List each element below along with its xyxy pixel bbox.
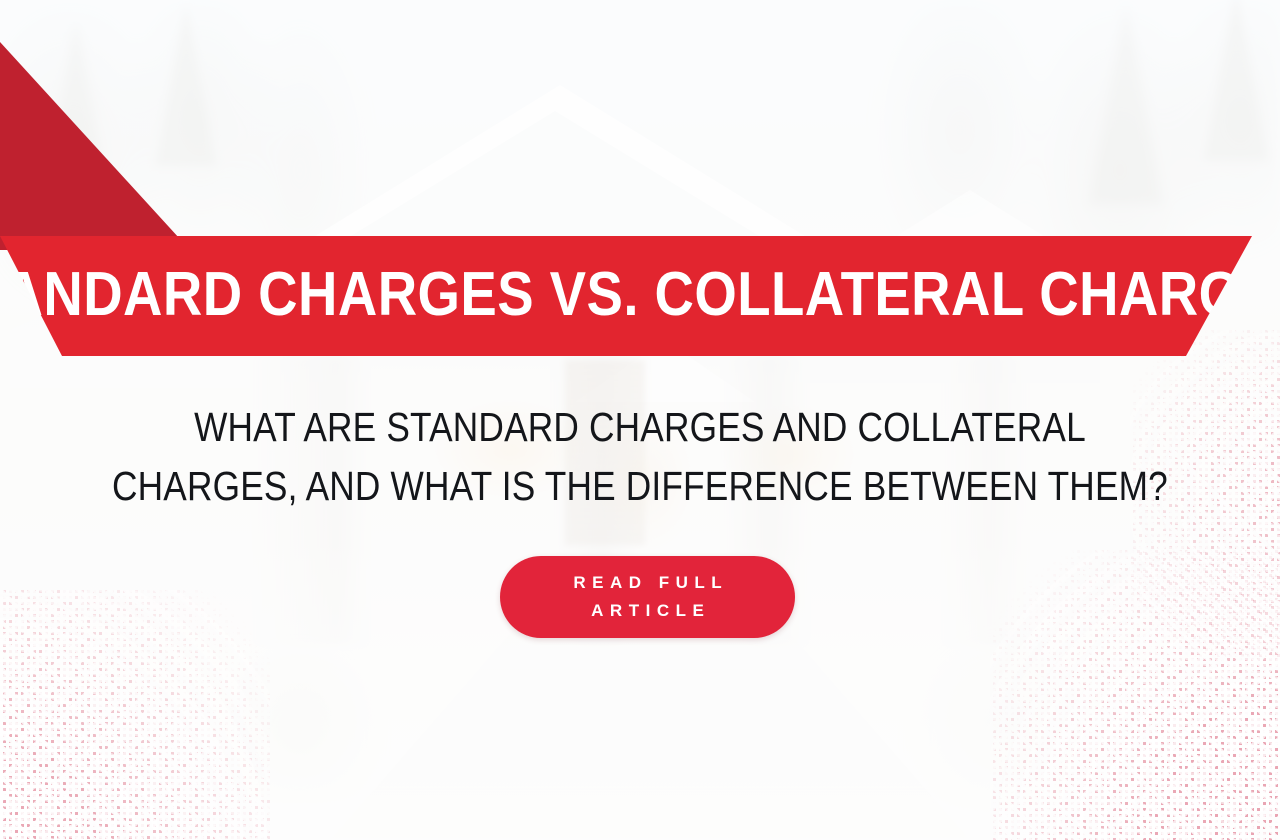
page-title: STANDARD CHARGES VS. COLLATERAL CHARGES (0, 264, 1280, 326)
title-ribbon: STANDARD CHARGES VS. COLLATERAL CHARGES (0, 236, 1252, 356)
subtitle-line-1: WHAT ARE STANDARD CHARGES AND COLLATERAL (90, 398, 1191, 457)
subtitle-line-2: CHARGES, AND WHAT IS THE DIFFERENCE BETW… (90, 457, 1191, 516)
cta-label-line-2: ARTICLE (585, 597, 711, 625)
subtitle: WHAT ARE STANDARD CHARGES AND COLLATERAL… (0, 398, 1280, 516)
cta-label-line-1: READ FULL (567, 569, 728, 597)
read-full-article-button[interactable]: READ FULL ARTICLE (500, 556, 795, 638)
promo-banner-card: STANDARD CHARGES VS. COLLATERAL CHARGES … (0, 0, 1280, 840)
